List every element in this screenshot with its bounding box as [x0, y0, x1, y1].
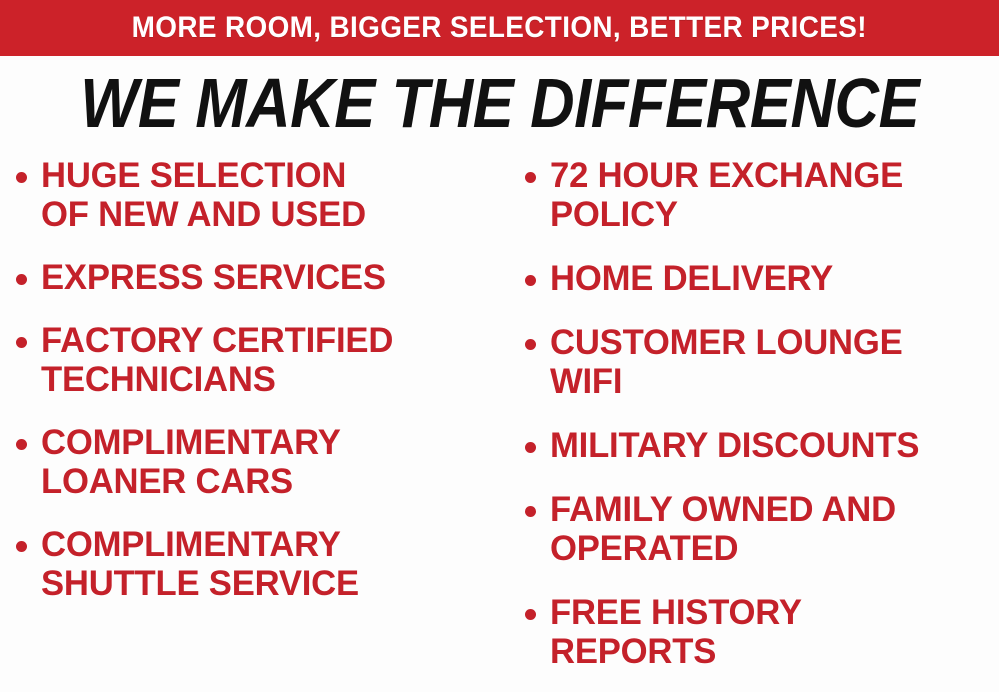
list-item-label: HUGE SELECTION OF NEW AND USED — [41, 156, 366, 234]
bullet-dot-icon — [525, 339, 536, 350]
promo-banner-text: MORE ROOM, BIGGER SELECTION, BETTER PRIC… — [132, 11, 867, 45]
features-column-left: HUGE SELECTION OF NEW AND USED EXPRESS S… — [0, 156, 505, 627]
list-item: CUSTOMER LOUNGE WIFI — [525, 323, 999, 401]
list-item: COMPLIMENTARY LOANER CARS — [16, 423, 505, 501]
features-columns: HUGE SELECTION OF NEW AND USED EXPRESS S… — [0, 156, 999, 692]
list-item-label: COMPLIMENTARY SHUTTLE SERVICE — [41, 525, 359, 603]
list-item-label: EXPRESS SERVICES — [41, 258, 386, 297]
bullet-dot-icon — [525, 506, 536, 517]
list-item: COMPLIMENTARY SHUTTLE SERVICE — [16, 525, 505, 603]
list-item-label: FREE HISTORY REPORTS — [550, 593, 802, 671]
headline-container: WE MAKE THE DIFFERENCE — [0, 60, 999, 146]
bullet-dot-icon — [16, 274, 27, 285]
list-item: MILITARY DISCOUNTS — [525, 426, 999, 465]
advertisement-banner: MORE ROOM, BIGGER SELECTION, BETTER PRIC… — [0, 0, 999, 692]
bullet-dot-icon — [525, 442, 536, 453]
bullet-dot-icon — [525, 609, 536, 620]
list-item-label: 72 HOUR EXCHANGE POLICY — [550, 156, 903, 234]
list-item: HOME DELIVERY — [525, 259, 999, 298]
bullet-dot-icon — [525, 275, 536, 286]
list-item-label: CUSTOMER LOUNGE WIFI — [550, 323, 903, 401]
bullet-dot-icon — [16, 439, 27, 450]
list-item: FAMILY OWNED AND OPERATED — [525, 490, 999, 568]
features-column-right: 72 HOUR EXCHANGE POLICY HOME DELIVERY CU… — [505, 156, 999, 696]
list-item-label: HOME DELIVERY — [550, 259, 833, 298]
list-item: 72 HOUR EXCHANGE POLICY — [525, 156, 999, 234]
list-item-label: FAMILY OWNED AND OPERATED — [550, 490, 896, 568]
bullet-dot-icon — [16, 172, 27, 183]
list-item: EXPRESS SERVICES — [16, 258, 505, 297]
bullet-dot-icon — [16, 337, 27, 348]
top-promo-banner: MORE ROOM, BIGGER SELECTION, BETTER PRIC… — [0, 0, 999, 56]
bullet-dot-icon — [16, 541, 27, 552]
list-item: HUGE SELECTION OF NEW AND USED — [16, 156, 505, 234]
bullet-dot-icon — [525, 172, 536, 183]
list-item: FACTORY CERTIFIED TECHNICIANS — [16, 321, 505, 399]
list-item-label: MILITARY DISCOUNTS — [550, 426, 919, 465]
list-item-label: FACTORY CERTIFIED TECHNICIANS — [41, 321, 393, 399]
list-item-label: COMPLIMENTARY LOANER CARS — [41, 423, 341, 501]
page-title: WE MAKE THE DIFFERENCE — [80, 68, 919, 138]
list-item: FREE HISTORY REPORTS — [525, 593, 999, 671]
